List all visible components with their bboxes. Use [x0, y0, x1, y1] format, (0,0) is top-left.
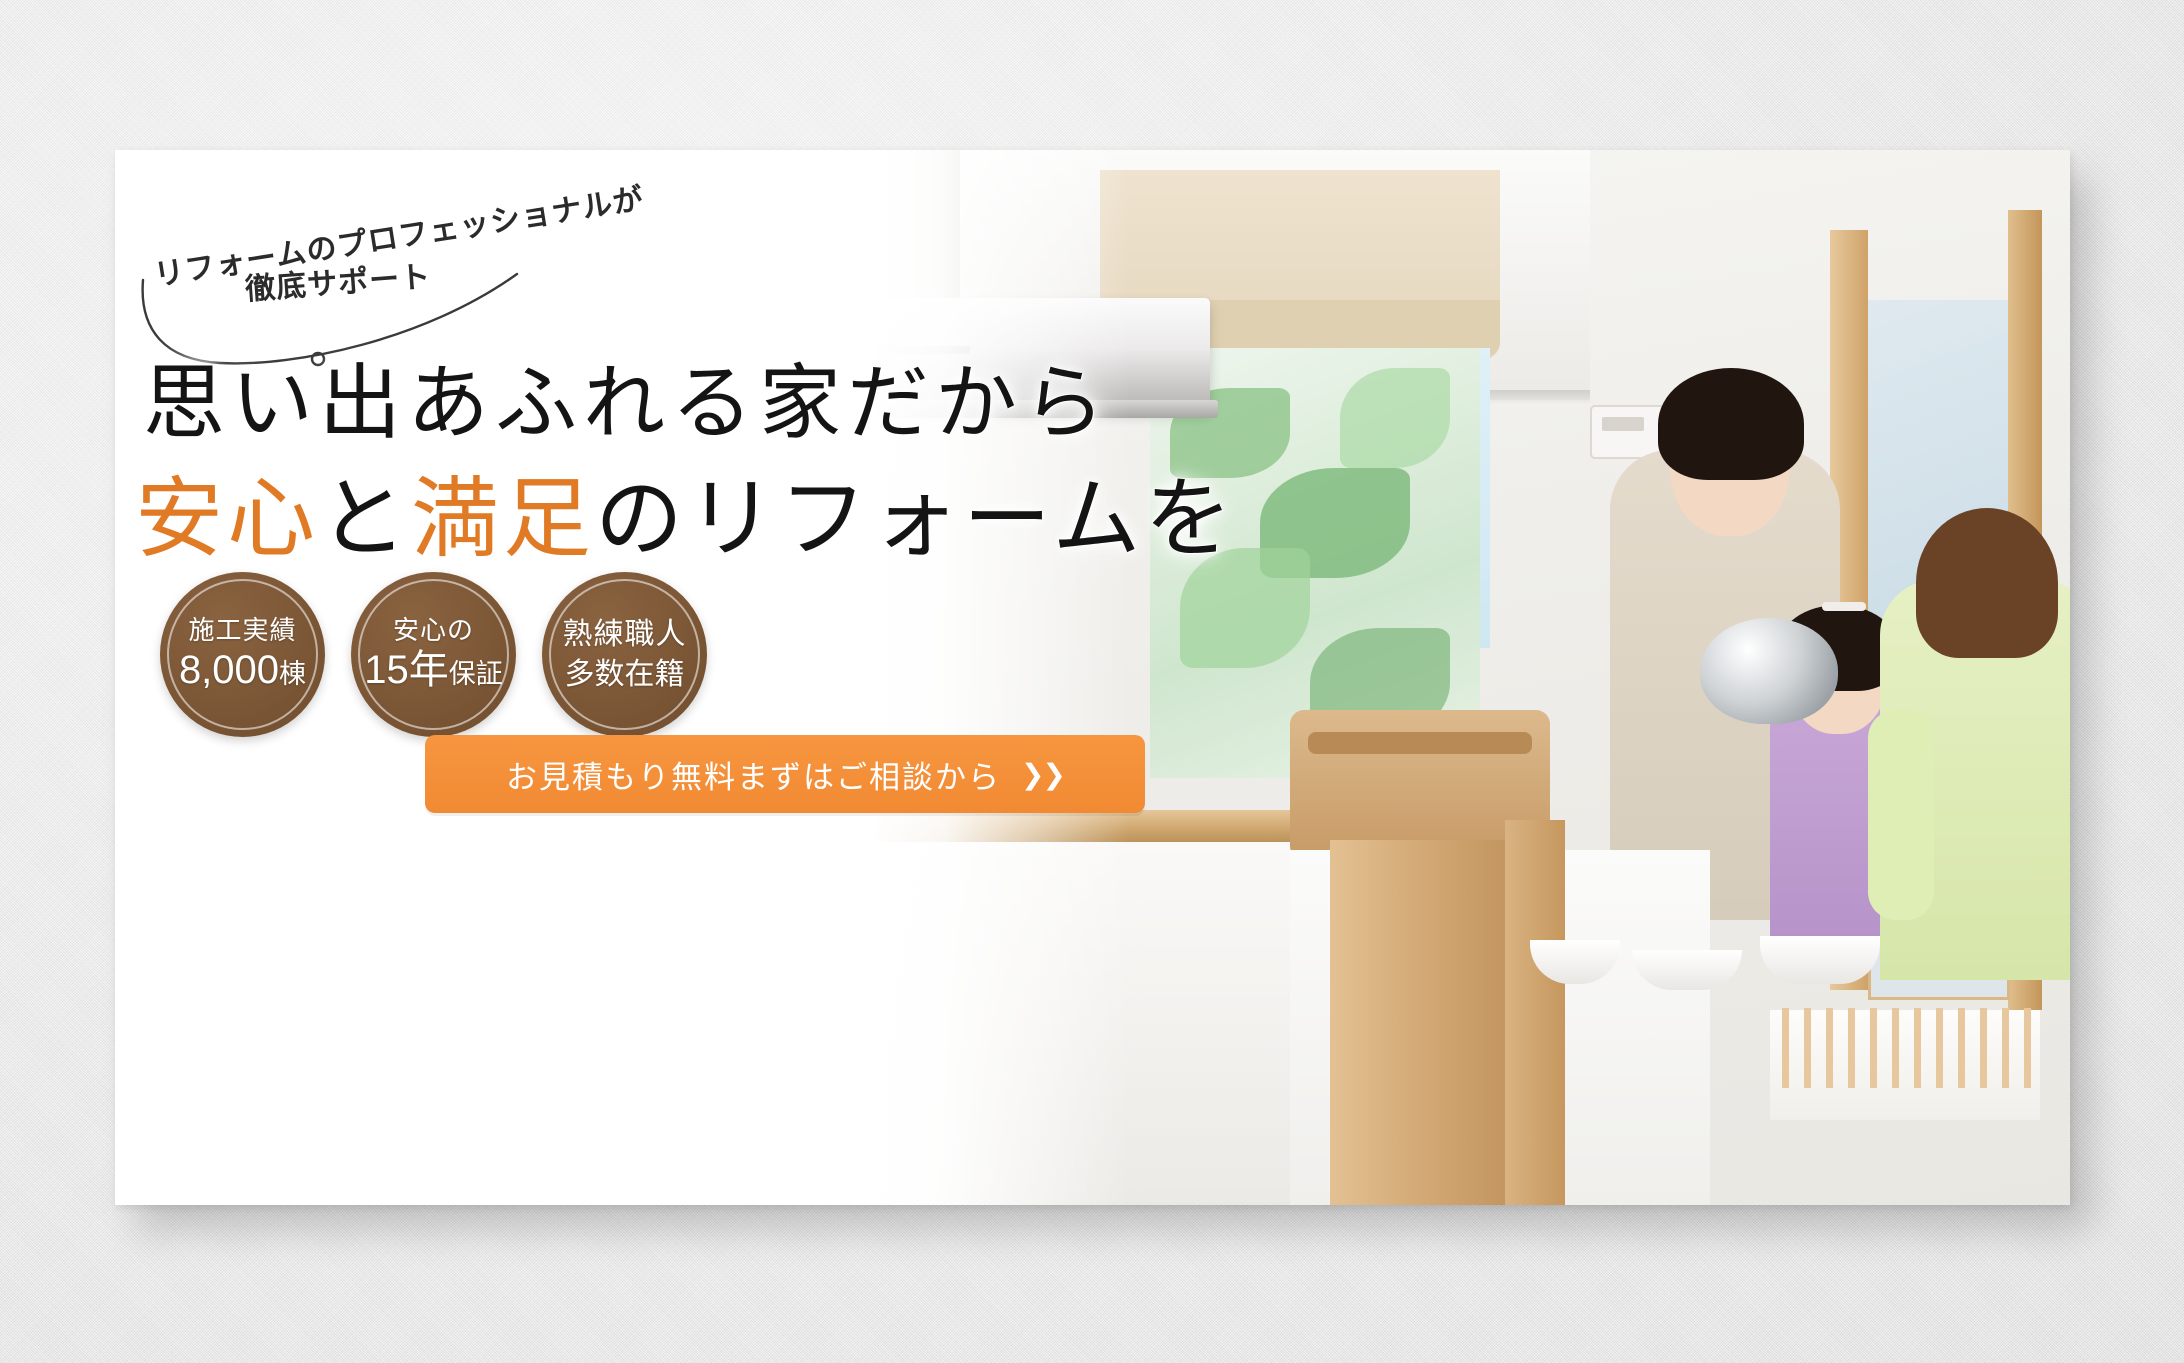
badge-value: 多数在籍 — [565, 656, 685, 694]
badge-label: 安心の — [393, 616, 474, 645]
hero-card: リフォームのプロフェッショナルが 徹底サポート 思い出あふれる家だから 安心と満… — [115, 150, 2070, 1205]
badge-group: 施工実績 8,000棟 安心の 15年保証 熟練職人 多数在籍 — [160, 572, 707, 737]
cta-button-free-estimate[interactable]: お見積もり無料まずはご相談から ❯❯ — [425, 735, 1145, 813]
headline-accent-anshin: 安心 — [135, 467, 319, 570]
badge-label: 熟練職人 — [563, 616, 687, 654]
headline-line-2: 安心と満足のリフォームを — [135, 448, 1236, 575]
badge-unit: 保証 — [449, 659, 503, 689]
headline-accent-manzoku: 満足 — [411, 467, 595, 570]
cta-label: お見積もり無料まずはご相談から — [506, 752, 1001, 797]
badge-construction-record: 施工実績 8,000棟 — [160, 572, 325, 737]
chevron-right-icon: ❯❯ — [1021, 758, 1064, 791]
headline-plain-reform: のリフォームを — [595, 467, 1236, 570]
badge-value: 8,000棟 — [179, 647, 306, 693]
badge-label: 施工実績 — [188, 616, 296, 645]
badge-unit: 棟 — [279, 659, 306, 689]
headline-line-1: 思い出あふれる家だから — [143, 336, 1111, 455]
badge-warranty: 安心の 15年保証 — [351, 572, 516, 737]
badge-value: 15年保証 — [364, 647, 503, 693]
badge-skilled-craftsmen: 熟練職人 多数在籍 — [542, 572, 707, 737]
headline-plain-to: と — [319, 467, 411, 570]
